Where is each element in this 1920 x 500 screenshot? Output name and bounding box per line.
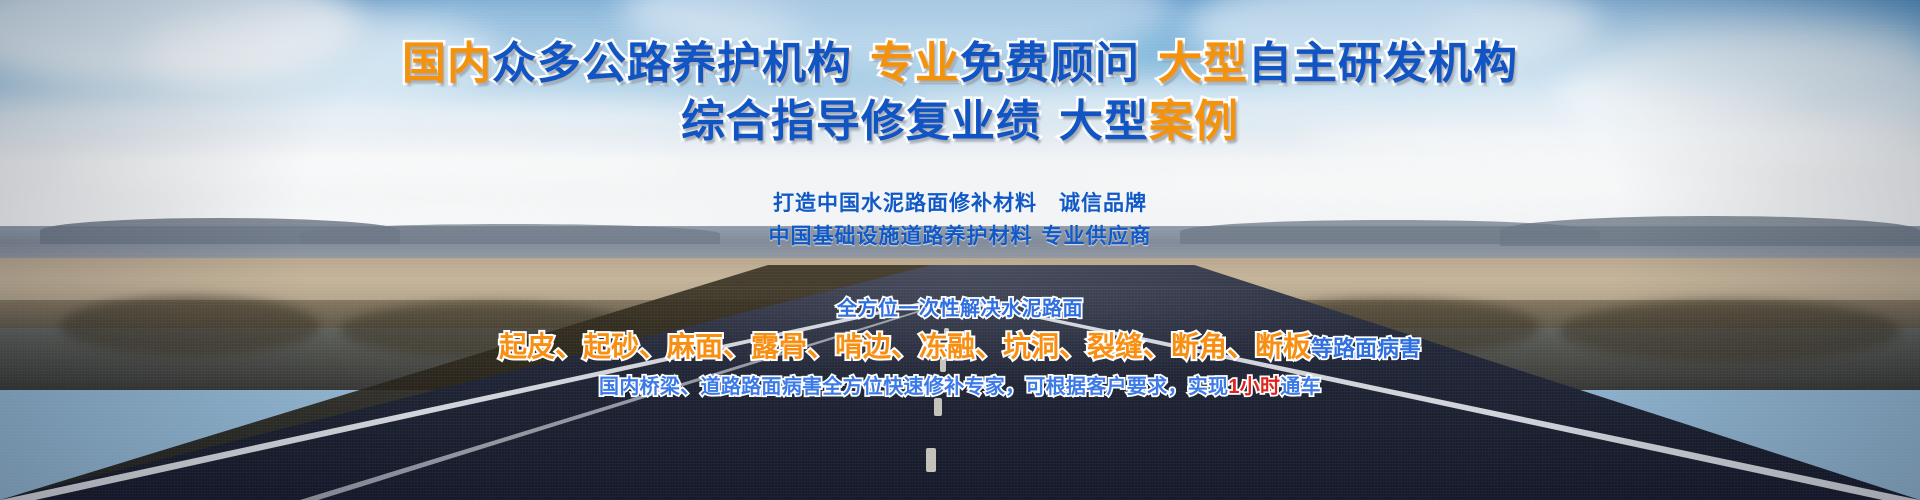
subtitle-1-right: 诚信品牌: [1059, 192, 1147, 215]
subtitle-line-1: 打造中国水泥路面修补材料诚信品牌: [0, 188, 1920, 221]
headline-seg-guidance: 综合指导修复业绩: [681, 97, 1041, 146]
disease-list: 起皮、起砂、麻面、露骨、啃边、冻融、坑洞、裂缝、断角、断板: [499, 331, 1311, 362]
headline-block: 国内众多公路养护机构专业免费顾问大型自主研发机构 综合指导修复业绩大型案例: [0, 40, 1920, 145]
subtitle-2-left: 中国基础设施道路养护材料: [769, 225, 1033, 248]
promotional-banner: 国内众多公路养护机构专业免费顾问大型自主研发机构 综合指导修复业绩大型案例 打造…: [0, 0, 1920, 500]
subtitle-line-2: 中国基础设施道路养护材料专业供应商: [0, 221, 1920, 254]
disease-suffix: 等路面病害: [1311, 336, 1421, 361]
headline-seg-agencies: 众多公路养护机构: [492, 39, 852, 88]
headline-line-1: 国内众多公路养护机构专业免费顾问大型自主研发机构: [0, 40, 1920, 88]
bottom-3-prefix: 国内桥梁、道路路面病害全方位快速修补专家，可根据客户要求，实现: [599, 376, 1228, 398]
headline-seg-cases: 案例: [1149, 97, 1239, 146]
subtitle-2-right: 专业供应商: [1042, 225, 1152, 248]
headline-seg-domestic: 国内: [402, 39, 492, 88]
bottom-line-3: 国内桥梁、道路路面病害全方位快速修补专家，可根据客户要求，实现1小时通车: [0, 370, 1920, 399]
one-hour-highlight: 1小时: [1228, 376, 1280, 398]
bottom-line-2: 起皮、起砂、麻面、露骨、啃边、冻融、坑洞、裂缝、断角、断板等路面病害: [0, 325, 1920, 365]
subtitle-1-left: 打造中国水泥路面修补材料: [773, 192, 1037, 215]
headline-line-2: 综合指导修复业绩大型案例: [0, 98, 1920, 146]
headline-seg-professional: 专业: [870, 39, 960, 88]
subtitle-block: 打造中国水泥路面修补材料诚信品牌 中国基础设施道路养护材料专业供应商: [0, 188, 1920, 253]
headline-seg-rnd: 自主研发机构: [1248, 39, 1518, 88]
bottom-block: 全方位一次性解决水泥路面 起皮、起砂、麻面、露骨、啃边、冻融、坑洞、裂缝、断角、…: [0, 292, 1920, 399]
banner-content: 国内众多公路养护机构专业免费顾问大型自主研发机构 综合指导修复业绩大型案例 打造…: [0, 0, 1920, 500]
headline-seg-large: 大型: [1158, 39, 1248, 88]
bottom-3-suffix: 通车: [1280, 376, 1321, 398]
bottom-line-1: 全方位一次性解决水泥路面: [0, 292, 1920, 321]
headline-seg-large-2: 大型: [1059, 97, 1149, 146]
headline-seg-free-consult: 免费顾问: [960, 39, 1140, 88]
